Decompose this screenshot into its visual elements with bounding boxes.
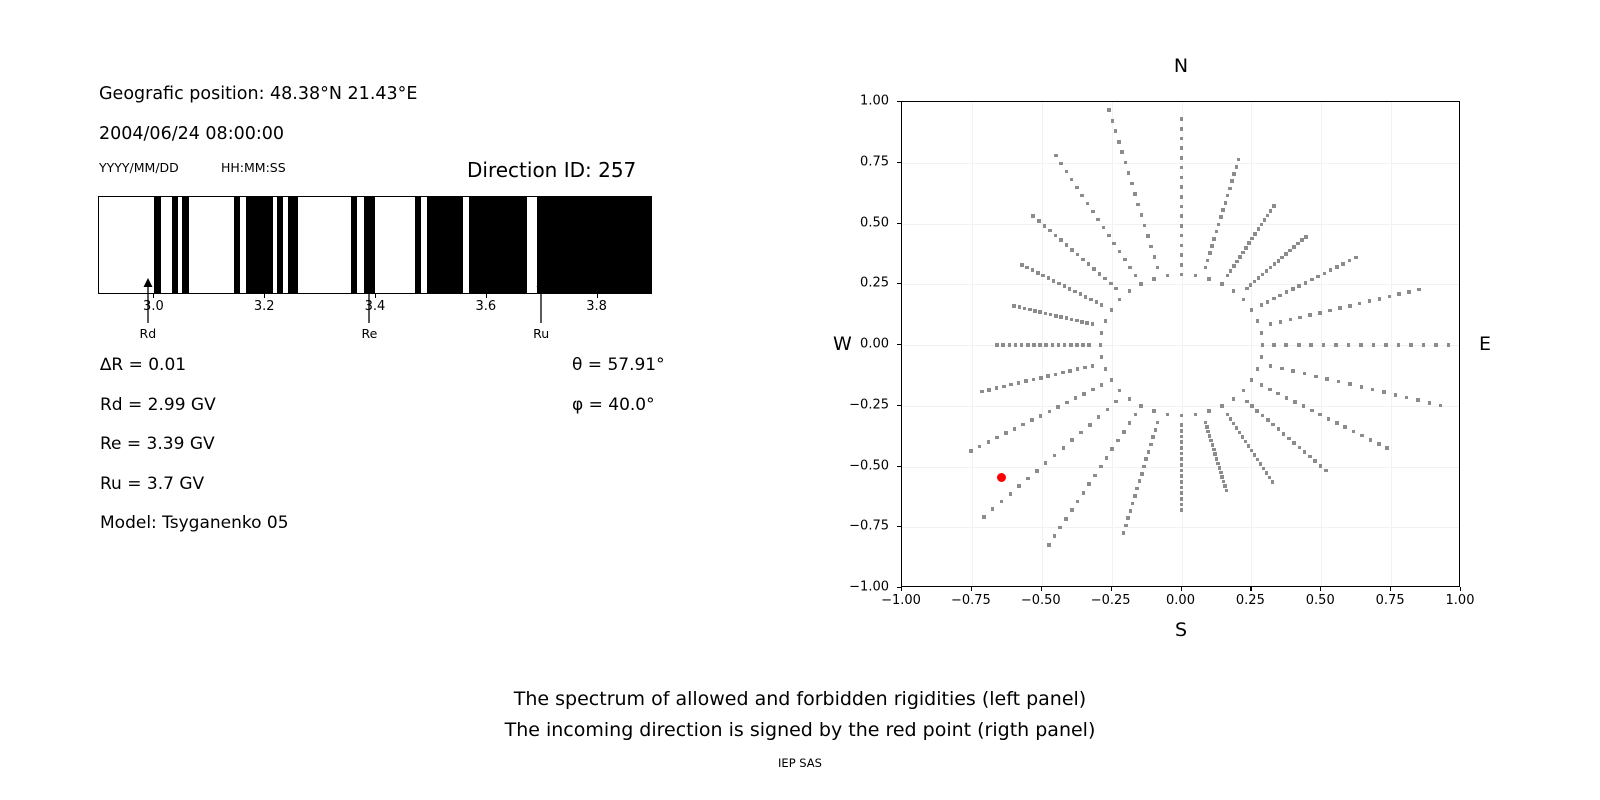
spoke-point — [1004, 431, 1008, 435]
spoke-point — [1206, 259, 1210, 263]
spoke-point — [1102, 226, 1106, 230]
spoke-point — [1054, 373, 1058, 377]
spoke-point — [1247, 444, 1251, 448]
spoke-point — [1180, 452, 1184, 456]
spoke-point — [1180, 214, 1184, 218]
spoke-point — [1277, 427, 1281, 431]
spoke-point — [1134, 274, 1138, 278]
param-ru: Ru = 3.7 GV — [100, 474, 204, 494]
spoke-point — [1065, 316, 1069, 320]
incoming-direction-point — [997, 473, 1006, 482]
spoke-point — [1287, 437, 1291, 441]
spoke-point — [1146, 234, 1150, 238]
compass-west-label: W — [833, 333, 852, 355]
spoke-point — [1397, 343, 1401, 347]
footer-label: IEP SAS — [0, 756, 1600, 770]
spoke-point — [1020, 263, 1024, 267]
polar-y-tick-label: −0.50 — [849, 458, 889, 473]
spoke-point — [1100, 303, 1104, 307]
spoke-point — [1134, 413, 1138, 417]
polar-y-tick-mark — [897, 101, 901, 102]
spoke-point — [1405, 396, 1409, 400]
spoke-point — [1093, 474, 1097, 478]
spoke-point — [1284, 343, 1288, 347]
compass-south-label: S — [1175, 619, 1187, 641]
compass-north-label: N — [1174, 55, 1188, 77]
spoke-point — [1065, 243, 1069, 247]
spoke-point — [1025, 266, 1029, 270]
polar-x-tick-mark — [1390, 587, 1391, 591]
spoke-point — [1308, 455, 1312, 459]
gridline-horizontal — [902, 527, 1459, 528]
spoke-point — [1149, 443, 1153, 447]
spoke-point — [1106, 408, 1110, 412]
spoke-point — [1221, 208, 1225, 212]
spoke-point — [1041, 274, 1045, 278]
spoke-point — [1081, 258, 1085, 262]
gridline-vertical — [1391, 102, 1392, 586]
spoke-point — [1129, 509, 1133, 513]
polar-y-tick-mark — [897, 587, 901, 588]
spoke-point — [1038, 343, 1042, 347]
spoke-point — [1180, 429, 1184, 433]
spoke-point — [1149, 245, 1153, 249]
spoke-point — [1261, 273, 1265, 277]
forbidden-band — [182, 197, 189, 293]
spoke-point — [1272, 204, 1276, 208]
spoke-point — [1089, 298, 1093, 302]
polar-x-tick-label: 0.25 — [1236, 593, 1265, 608]
spoke-point — [1318, 413, 1322, 417]
spoke-point — [1180, 156, 1184, 160]
ring-point — [1256, 367, 1260, 371]
polar-y-tick-label: 0.75 — [860, 154, 889, 169]
spoke-point — [1266, 300, 1270, 304]
spoke-point — [1035, 469, 1039, 473]
spoke-point — [1358, 302, 1362, 306]
spoke-point — [1123, 258, 1127, 262]
spoke-point — [1314, 375, 1318, 379]
spoke-point — [1417, 288, 1421, 292]
spoke-point — [1212, 448, 1216, 452]
spoke-point — [1204, 266, 1208, 270]
spoke-point — [1180, 469, 1184, 473]
spoke-point — [1211, 443, 1215, 447]
forbidden-band — [172, 197, 179, 293]
spoke-point — [1144, 457, 1148, 461]
spoke-point — [1136, 203, 1140, 207]
spoke-point — [1031, 268, 1035, 272]
spoke-point — [1064, 517, 1068, 521]
spoke-point — [1238, 431, 1242, 435]
spoke-point — [1241, 251, 1245, 255]
spoke-point — [1269, 364, 1273, 368]
spoke-point — [1354, 256, 1358, 260]
spoke-point — [1087, 343, 1091, 347]
spoke-point — [1222, 480, 1226, 484]
spoke-point — [1224, 201, 1228, 205]
spoke-point — [1216, 462, 1220, 466]
spoke-point — [1253, 280, 1257, 284]
ring-point — [1207, 409, 1211, 413]
spoke-point — [1138, 479, 1142, 483]
spoke-point — [1048, 410, 1052, 414]
spoke-point — [1180, 480, 1184, 484]
spoke-point — [1310, 278, 1314, 282]
polar-x-tick-mark — [1111, 587, 1112, 591]
gridline-horizontal — [902, 345, 1459, 346]
polar-x-tick-label: 0.00 — [1166, 593, 1195, 608]
spoke-point — [1032, 343, 1036, 347]
polar-x-tick-mark — [1320, 587, 1321, 591]
spoke-point — [978, 445, 982, 449]
spoke-point — [1407, 290, 1411, 294]
spoke-point — [1259, 462, 1263, 466]
spoke-point — [1012, 304, 1016, 308]
spoke-point — [1180, 205, 1184, 209]
spoke-point — [1262, 467, 1266, 471]
marker-label-re: Re — [362, 326, 378, 341]
spoke-point — [1142, 465, 1146, 469]
spoke-point — [1076, 253, 1080, 257]
spoke-point — [1263, 218, 1267, 222]
spoke-point — [1068, 369, 1072, 373]
spoke-point — [1291, 369, 1295, 373]
forbidden-band — [234, 197, 241, 293]
spoke-point — [1229, 417, 1233, 421]
polar-x-tick-mark — [1181, 587, 1182, 591]
param-delta-r: ∆R = 0.01 — [100, 355, 186, 375]
param-phi: φ = 40.0° — [572, 395, 655, 415]
forbidden-band — [469, 197, 527, 293]
spoke-point — [1180, 486, 1184, 490]
spoke-point — [1128, 421, 1132, 425]
spoke-point — [1180, 253, 1184, 257]
ring-point — [1250, 308, 1254, 312]
spoke-point — [1316, 275, 1320, 279]
spoke-point — [1082, 392, 1086, 396]
polar-y-tick-label: −0.75 — [849, 519, 889, 534]
spoke-point — [1180, 244, 1184, 248]
spoke-point — [1059, 238, 1063, 242]
spoke-point — [1026, 477, 1030, 481]
spoke-point — [1070, 508, 1074, 512]
spoke-point — [1051, 343, 1055, 347]
spoke-point — [1257, 276, 1261, 280]
spoke-point — [1298, 316, 1302, 320]
spoke-point — [1180, 491, 1184, 495]
spoke-point — [1156, 421, 1160, 425]
polar-y-tick-mark — [897, 223, 901, 224]
spoke-point — [1140, 213, 1144, 217]
ring-point — [1180, 273, 1184, 277]
spoke-point — [1260, 383, 1264, 387]
polar-x-tick-label: 1.00 — [1446, 593, 1475, 608]
spoke-point — [1292, 441, 1296, 445]
spoke-point — [1105, 456, 1109, 460]
ring-point — [1152, 409, 1156, 413]
spoke-point — [969, 449, 973, 453]
x-tick-label: 3.2 — [254, 299, 275, 314]
spoke-point — [1368, 299, 1372, 303]
spoke-point — [1310, 409, 1314, 413]
spoke-point — [1265, 269, 1269, 273]
ring-point — [1194, 274, 1198, 278]
spoke-point — [1114, 129, 1118, 133]
polar-y-tick-mark — [897, 283, 901, 284]
spoke-point — [1272, 297, 1276, 301]
polar-x-tick-mark — [1250, 587, 1251, 591]
spoke-point — [1030, 418, 1034, 422]
x-tick-mark — [264, 294, 265, 298]
spoke-point — [1079, 431, 1083, 435]
spoke-point — [1118, 250, 1122, 254]
spoke-point — [1253, 232, 1257, 236]
marker-label-rd: Rd — [140, 326, 157, 341]
spoke-point — [1385, 446, 1389, 450]
spoke-point — [1372, 343, 1376, 347]
spoke-point — [1226, 194, 1230, 198]
polar-x-tick-label: −0.25 — [1091, 593, 1131, 608]
param-re: Re = 3.39 GV — [100, 434, 215, 454]
spoke-point — [1054, 154, 1058, 158]
polar-plot-frame — [901, 101, 1460, 587]
spoke-point — [1080, 194, 1084, 198]
spoke-point — [1180, 423, 1184, 427]
spoke-point — [1151, 435, 1155, 439]
caption-line-2: The incoming direction is signed by the … — [0, 719, 1600, 741]
ring-point — [1260, 355, 1264, 359]
spoke-point — [1107, 234, 1111, 238]
ring-point — [1207, 277, 1211, 281]
spoke-point — [1250, 449, 1254, 453]
spoke-point — [1180, 474, 1184, 478]
spoke-point — [1293, 400, 1297, 404]
spoke-point — [1180, 503, 1184, 507]
spoke-point — [1008, 343, 1012, 347]
spoke-point — [1075, 319, 1079, 323]
spoke-point — [1100, 383, 1104, 387]
spoke-point — [1039, 414, 1043, 418]
spoke-point — [1059, 162, 1063, 166]
spoke-point — [1232, 264, 1236, 268]
spoke-point — [1057, 343, 1061, 347]
spoke-point — [1114, 287, 1118, 291]
spoke-point — [1091, 210, 1095, 214]
polar-y-tick-mark — [897, 405, 901, 406]
spoke-point — [995, 343, 999, 347]
polar-y-tick-label: 0.00 — [860, 337, 889, 352]
spoke-point — [1223, 484, 1227, 488]
ring-point — [1220, 282, 1224, 286]
polar-y-tick-label: 0.25 — [860, 276, 889, 291]
spoke-point — [1238, 255, 1242, 259]
spoke-point — [1147, 450, 1151, 454]
spoke-point — [1253, 453, 1257, 457]
gridline-horizontal — [902, 163, 1459, 164]
spoke-point — [1347, 343, 1351, 347]
marker-label-ru: Ru — [533, 326, 549, 341]
spoke-point — [1384, 343, 1388, 347]
spoke-point — [1063, 284, 1067, 288]
spoke-point — [1439, 404, 1443, 408]
spoke-point — [1088, 423, 1092, 427]
spoke-point — [1080, 320, 1084, 324]
spoke-point — [1237, 158, 1241, 162]
spoke-point — [1360, 434, 1364, 438]
spoke-point — [1249, 283, 1253, 287]
spoke-point — [1052, 279, 1056, 283]
spoke-point — [1250, 237, 1254, 241]
spoke-point — [1284, 252, 1288, 256]
spoke-point — [1212, 237, 1216, 241]
spoke-point — [1082, 491, 1086, 495]
spoke-point — [1261, 414, 1265, 418]
spoke-point — [1218, 466, 1222, 470]
spoke-point — [1017, 484, 1021, 488]
spoke-point — [1014, 343, 1018, 347]
spoke-point — [1260, 303, 1264, 307]
spoke-point — [1209, 439, 1213, 443]
spoke-point — [1180, 457, 1184, 461]
spoke-point — [1091, 322, 1095, 326]
spoke-point — [1061, 371, 1065, 375]
spoke-point — [1046, 374, 1050, 378]
spoke-point — [1229, 269, 1233, 273]
spoke-point — [1024, 379, 1028, 383]
spoke-point — [1247, 241, 1251, 245]
spoke-point — [1083, 366, 1087, 370]
spoke-point — [1087, 262, 1091, 266]
rigidity-spectrum-axis: 3.03.23.43.63.8RdReRu — [98, 294, 652, 354]
ring-point — [1166, 274, 1170, 278]
compass-east-label: E — [1479, 333, 1491, 355]
spoke-point — [1091, 388, 1095, 392]
gridline-vertical — [1112, 102, 1113, 586]
spoke-point — [1180, 117, 1184, 121]
spoke-point — [1329, 268, 1333, 272]
ring-point — [1250, 378, 1254, 382]
spoke-point — [1127, 171, 1131, 175]
spoke-point — [1081, 343, 1085, 347]
spoke-point — [1180, 185, 1184, 189]
spoke-point — [1265, 471, 1269, 475]
spoke-point — [1057, 282, 1061, 286]
polar-x-tick-mark — [901, 587, 902, 591]
spoke-point — [1225, 489, 1229, 493]
ring-point — [1099, 343, 1103, 347]
spoke-point — [1348, 382, 1352, 386]
spoke-point — [1065, 401, 1069, 405]
spoke-point — [1256, 458, 1260, 462]
spoke-point — [1285, 396, 1289, 400]
spoke-point — [1084, 295, 1088, 299]
spoke-point — [1268, 388, 1272, 392]
spoke-point — [1053, 454, 1057, 458]
spoke-point — [1001, 343, 1005, 347]
spoke-point — [1324, 469, 1328, 473]
ring-point — [1139, 282, 1143, 286]
polar-y-tick-label: −1.00 — [849, 580, 889, 595]
gridline-horizontal — [902, 284, 1459, 285]
spoke-point — [1133, 192, 1137, 196]
ring-point — [1100, 331, 1104, 335]
ring-point — [1194, 413, 1198, 417]
spoke-point — [1054, 234, 1058, 238]
direction-id-label: Direction ID: 257 — [467, 158, 636, 182]
spoke-point — [1180, 263, 1184, 267]
spoke-point — [1228, 187, 1232, 191]
spoke-point — [1341, 262, 1345, 266]
spoke-point — [1217, 223, 1221, 227]
forbidden-band — [288, 197, 299, 293]
polar-y-tick-label: 1.00 — [860, 94, 889, 109]
spoke-point — [1044, 312, 1048, 316]
spoke-point — [1382, 390, 1386, 394]
spoke-point — [1039, 376, 1043, 380]
param-theta: θ = 57.91° — [572, 355, 665, 375]
spoke-point — [1276, 392, 1280, 396]
marker-arrow-re-icon — [362, 276, 376, 324]
polar-x-tick-mark — [971, 587, 972, 591]
ring-point — [1260, 331, 1264, 335]
spoke-point — [1235, 165, 1239, 169]
spoke-point — [1154, 428, 1158, 432]
spoke-point — [1278, 294, 1282, 298]
spoke-point — [1266, 418, 1270, 422]
spoke-point — [1279, 320, 1283, 324]
spoke-point — [1205, 425, 1209, 429]
spoke-point — [1422, 343, 1426, 347]
spoke-point — [1288, 249, 1292, 253]
spoke-point — [1049, 313, 1053, 317]
spoke-point — [1002, 385, 1006, 389]
spoke-point — [1371, 388, 1375, 392]
ring-point — [1152, 277, 1156, 281]
spoke-point — [1114, 400, 1118, 404]
datetime-label: 2004/06/24 08:00:00 — [99, 124, 284, 144]
ring-point — [1242, 389, 1246, 393]
spoke-point — [1009, 492, 1013, 496]
spoke-point — [1434, 343, 1438, 347]
spoke-point — [1107, 108, 1111, 112]
polar-x-tick-label: 0.50 — [1306, 593, 1335, 608]
spoke-point — [1070, 318, 1074, 322]
spoke-point — [1296, 242, 1300, 246]
spoke-point — [1095, 300, 1099, 304]
spoke-point — [1459, 343, 1460, 347]
polar-y-tick-mark — [897, 344, 901, 345]
caption-line-1: The spectrum of allowed and forbidden ri… — [0, 688, 1600, 710]
spoke-point — [1348, 304, 1352, 308]
spoke-point — [1180, 176, 1184, 180]
spoke-point — [1232, 422, 1236, 426]
spoke-point — [1337, 380, 1341, 384]
ring-point — [1110, 378, 1114, 382]
spoke-point — [1028, 308, 1032, 312]
spoke-point — [1026, 343, 1030, 347]
forbidden-band — [154, 197, 161, 293]
spoke-point — [1318, 311, 1322, 315]
spoke-point — [1304, 235, 1308, 239]
spoke-point — [1070, 438, 1074, 442]
forbidden-band — [415, 197, 422, 293]
ring-point — [1104, 319, 1108, 323]
polar-y-tick-label: −0.25 — [849, 397, 889, 412]
polar-y-tick-mark — [897, 466, 901, 467]
spoke-point — [1255, 409, 1259, 413]
spoke-point — [1130, 182, 1134, 186]
